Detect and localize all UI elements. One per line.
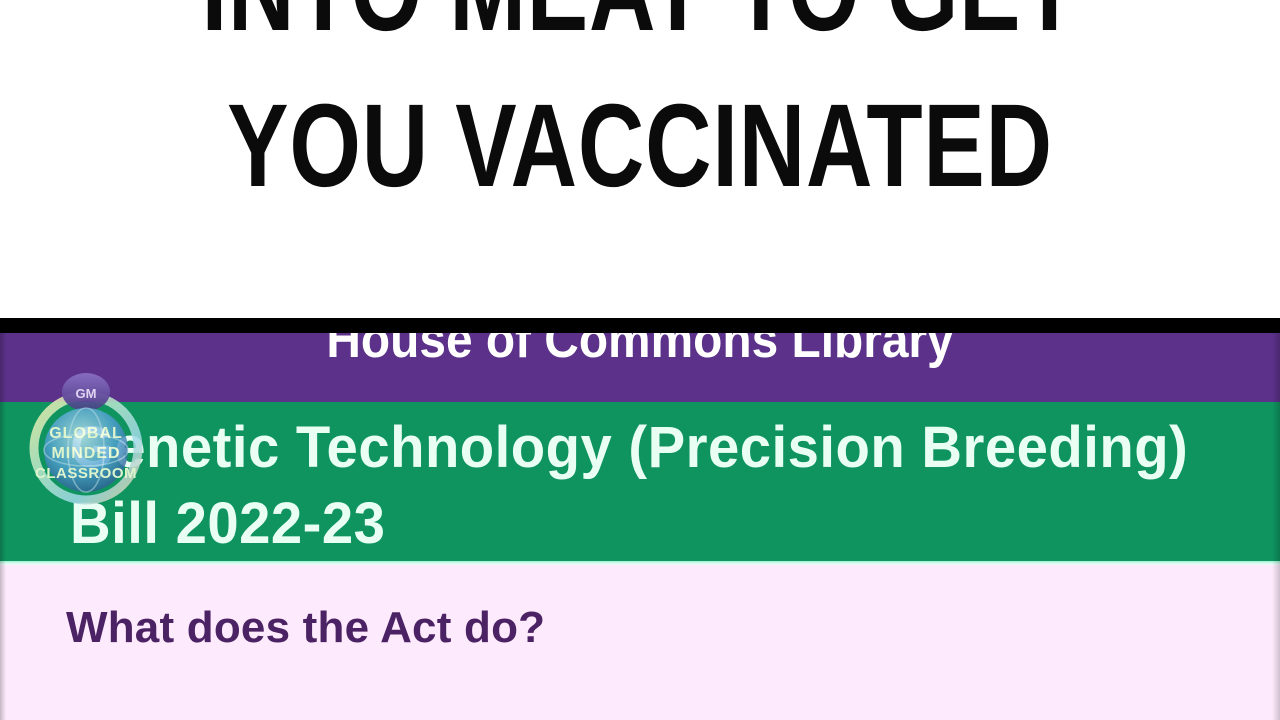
meme-caption-panel: INTO MEAT TO GET YOU VACCINATED: [0, 0, 1280, 318]
publisher-name: House of Commons Library: [51, 333, 1229, 373]
bill-title-band: Genetic Technology (Precision Breeding) …: [0, 402, 1280, 563]
bill-title-line-1: Genetic Technology (Precision Breeding): [70, 410, 1263, 486]
meme-caption-line-2: YOU VACCINATED: [141, 68, 1139, 224]
publisher-band: House of Commons Library: [0, 333, 1280, 402]
section-heading: What does the Act do?: [66, 600, 545, 656]
video-frame: INTO MEAT TO GET YOU VACCINATED House of…: [0, 0, 1280, 720]
bill-title-line-2: Bill 2022-23: [70, 486, 1263, 562]
bill-title-stack: Genetic Technology (Precision Breeding) …: [70, 410, 1280, 562]
content-section: What does the Act do?: [0, 566, 1280, 720]
meme-caption-line-1: INTO MEAT TO GET: [141, 0, 1139, 68]
document-screenshot: House of Commons Library Genetic Technol…: [0, 318, 1280, 720]
meme-caption-stack: INTO MEAT TO GET YOU VACCINATED: [0, 0, 1280, 224]
section-divider: [0, 318, 1280, 333]
